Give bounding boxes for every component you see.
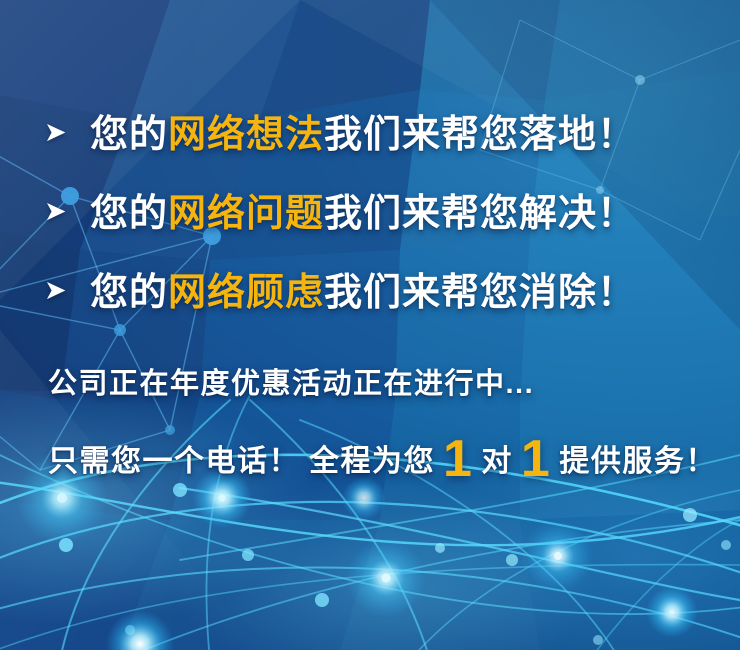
headline-3-accent: 网络顾虑 <box>168 272 324 314</box>
subline-2-part2: 全程为您 <box>309 436 435 480</box>
headline-2-suffix: 我们来帮您解决！ <box>324 193 636 235</box>
headline-row-3: ➤ 您的网络顾虑我们来帮您消除！ <box>0 253 740 332</box>
headline-1-suffix: 我们来帮您落地！ <box>324 114 636 156</box>
headline-2-accent: 网络问题 <box>168 193 324 235</box>
headline-3-suffix: 我们来帮您消除！ <box>324 272 636 314</box>
headline-text-3: 您的网络顾虑我们来帮您消除！ <box>90 274 636 312</box>
arrow-bullet-icon: ➤ <box>44 198 90 225</box>
subline-2-part1: 只需您一个电话！ <box>48 436 300 480</box>
promo-subline-2: 只需您一个电话！ 全程为您 1 对 1 提供服务！ <box>48 428 717 480</box>
headline-list: ➤ 您的网络想法我们来帮您落地！ ➤ 您的网络问题我们来帮您解决！ ➤ 您的网络… <box>0 95 740 332</box>
one-to-one-number-first: 1 <box>435 433 481 485</box>
subline-2-part4: 提供服务！ <box>559 436 717 480</box>
headline-text-1: 您的网络想法我们来帮您落地！ <box>90 116 636 154</box>
headline-1-prefix: 您的 <box>90 114 168 156</box>
headline-3-prefix: 您的 <box>90 272 168 314</box>
one-to-one-number-second: 1 <box>513 433 559 485</box>
headline-row-1: ➤ 您的网络想法我们来帮您落地！ <box>0 95 740 174</box>
arrow-bullet-icon: ➤ <box>44 277 90 304</box>
promo-subline-1: 公司正在年度优惠活动正在进行中... <box>48 360 534 402</box>
headline-text-2: 您的网络问题我们来帮您解决！ <box>90 195 636 233</box>
subline-2-part3: 对 <box>481 436 513 480</box>
arrow-bullet-icon: ➤ <box>44 119 90 146</box>
headline-2-prefix: 您的 <box>90 193 168 235</box>
headline-row-2: ➤ 您的网络问题我们来帮您解决！ <box>0 174 740 253</box>
headline-1-accent: 网络想法 <box>168 114 324 156</box>
promo-banner: ➤ 您的网络想法我们来帮您落地！ ➤ 您的网络问题我们来帮您解决！ ➤ 您的网络… <box>0 0 740 650</box>
